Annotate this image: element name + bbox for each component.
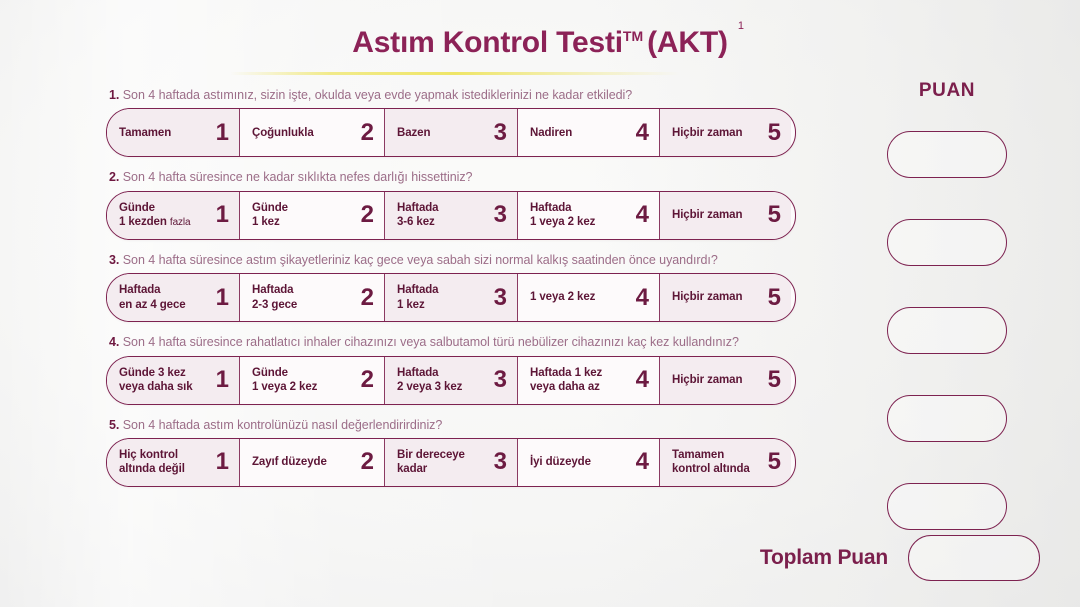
- answer-option-line2: 1 kez: [252, 216, 280, 228]
- answer-option-q1-5[interactable]: Hiçbir zaman5: [660, 109, 791, 156]
- answer-option-q2-1[interactable]: Günde1 kezden fazla1: [107, 192, 240, 239]
- answer-option-line1: Haftada: [252, 284, 293, 296]
- answer-option-label: Hiç kontrolaltında değil: [119, 448, 185, 477]
- score-slot-4: [852, 374, 1042, 462]
- answer-option-label: Günde1 kezden fazla: [119, 201, 191, 230]
- answer-option-line1: İyi düzeyde: [530, 456, 591, 468]
- answer-option-value: 4: [636, 368, 649, 392]
- answer-option-value: 5: [768, 286, 781, 310]
- score-slot-1: [852, 110, 1042, 198]
- score-column: PUAN: [852, 80, 1042, 550]
- answer-option-q4-2[interactable]: Günde1 veya 2 kez2: [240, 357, 385, 404]
- answer-option-q4-4[interactable]: Haftada 1 kezveya daha az4: [518, 357, 660, 404]
- answer-option-value: 5: [768, 368, 781, 392]
- akt-questionnaire-page: Astım Kontrol TestiTM(AKT)1 1. Son 4 haf…: [0, 0, 1080, 607]
- answer-option-line1: Hiçbir zaman: [672, 374, 742, 386]
- answer-option-q2-2[interactable]: Günde1 kez2: [240, 192, 385, 239]
- question-block-5: 5. Son 4 haftada astım kontrolünüzü nası…: [106, 418, 796, 487]
- answer-option-q3-1[interactable]: Haftadaen az 4 gece1: [107, 274, 240, 321]
- questions-list: 1. Son 4 haftada astımınız, sizin işte, …: [106, 88, 796, 500]
- answer-option-value: 3: [494, 286, 507, 310]
- answer-option-line1: Bazen: [397, 127, 430, 139]
- score-input-q2[interactable]: [887, 219, 1007, 266]
- score-input-q1[interactable]: [887, 131, 1007, 178]
- answer-row-4: Günde 3 kezveya daha sık1Günde1 veya 2 k…: [106, 356, 796, 405]
- answer-option-line1: Günde 3 kez: [119, 367, 186, 379]
- answer-option-q1-4[interactable]: Nadiren4: [518, 109, 660, 156]
- answer-option-label: Günde1 veya 2 kez: [252, 366, 317, 395]
- answer-option-line1: Tamamen: [119, 127, 171, 139]
- answer-option-value: 4: [636, 121, 649, 145]
- answer-option-label: 1 veya 2 kez: [530, 290, 595, 304]
- answer-option-q2-3[interactable]: Haftada3-6 kez3: [385, 192, 518, 239]
- answer-row-2: Günde1 kezden fazla1Günde1 kez2Haftada3-…: [106, 191, 796, 240]
- answer-option-line2: 2-3 gece: [252, 299, 297, 311]
- answer-option-value: 3: [494, 203, 507, 227]
- question-block-4: 4. Son 4 hafta süresince rahatlatıcı inh…: [106, 335, 796, 404]
- answer-option-line1: Günde: [252, 202, 288, 214]
- question-block-3: 3. Son 4 hafta süresince astım şikayetle…: [106, 253, 796, 322]
- answer-option-q5-3[interactable]: Bir dereceyekadar3: [385, 439, 518, 486]
- answer-option-line2: 1 veya 2 kez: [252, 381, 317, 393]
- question-number: 2.: [109, 170, 119, 184]
- answer-option-line2: 1 veya 2 kez: [530, 216, 595, 228]
- answer-option-q4-3[interactable]: Haftada2 veya 3 kez3: [385, 357, 518, 404]
- question-body: Son 4 haftada astımınız, sizin işte, oku…: [123, 88, 632, 102]
- answer-option-line2: 2 veya 3 kez: [397, 381, 462, 393]
- answer-option-line1: Hiçbir zaman: [672, 127, 742, 139]
- answer-option-label: Bazen: [397, 126, 430, 140]
- question-number: 3.: [109, 253, 119, 267]
- question-block-1: 1. Son 4 haftada astımınız, sizin işte, …: [106, 88, 796, 157]
- question-number: 4.: [109, 335, 119, 349]
- total-score-input[interactable]: [908, 535, 1040, 581]
- question-text-3: 3. Son 4 hafta süresince astım şikayetle…: [109, 253, 796, 267]
- answer-row-3: Haftadaen az 4 gece1Haftada2-3 gece2Haft…: [106, 273, 796, 322]
- answer-option-label: Haftada1 kez: [397, 283, 438, 312]
- answer-option-q3-4[interactable]: 1 veya 2 kez4: [518, 274, 660, 321]
- answer-option-line1: Çoğunlukla: [252, 127, 314, 139]
- answer-option-value: 4: [636, 286, 649, 310]
- answer-option-line1: Haftada 1 kez: [530, 367, 602, 379]
- score-column-header: PUAN: [852, 80, 1042, 102]
- answer-option-line1: Günde: [252, 367, 288, 379]
- page-title: Astım Kontrol TestiTM(AKT)1: [352, 26, 728, 60]
- question-body: Son 4 haftada astım kontrolünüzü nasıl d…: [123, 418, 443, 432]
- answer-option-label: Hiçbir zaman: [672, 290, 742, 304]
- question-text-4: 4. Son 4 hafta süresince rahatlatıcı inh…: [109, 335, 796, 349]
- title-area: Astım Kontrol TestiTM(AKT)1: [0, 26, 1080, 60]
- answer-option-label: Hiçbir zaman: [672, 126, 742, 140]
- answer-option-value: 3: [494, 450, 507, 474]
- answer-option-line1: Hiçbir zaman: [672, 291, 742, 303]
- answer-option-value: 1: [216, 121, 229, 145]
- answer-option-q2-4[interactable]: Haftada1 veya 2 kez4: [518, 192, 660, 239]
- answer-option-q4-5[interactable]: Hiçbir zaman5: [660, 357, 791, 404]
- answer-option-value: 1: [216, 450, 229, 474]
- answer-option-line1: Günde: [119, 202, 155, 214]
- title-accent-rule: [230, 72, 680, 75]
- answer-option-value: 2: [361, 286, 374, 310]
- answer-option-label: Haftadaen az 4 gece: [119, 283, 186, 312]
- answer-option-label: Bir dereceyekadar: [397, 448, 465, 477]
- answer-option-q1-2[interactable]: Çoğunlukla2: [240, 109, 385, 156]
- answer-option-q3-2[interactable]: Haftada2-3 gece2: [240, 274, 385, 321]
- answer-option-line1: Haftada: [397, 367, 438, 379]
- answer-option-value: 3: [494, 121, 507, 145]
- score-input-q3[interactable]: [887, 307, 1007, 354]
- answer-option-value: 5: [768, 203, 781, 227]
- answer-option-line2: en az 4 gece: [119, 299, 186, 311]
- answer-option-q4-1[interactable]: Günde 3 kezveya daha sık1: [107, 357, 240, 404]
- answer-option-line1: Haftada: [397, 284, 438, 296]
- total-score-label: Toplam Puan: [760, 546, 888, 570]
- answer-option-line1: Tamamen: [672, 449, 724, 461]
- answer-option-line2: veya daha az: [530, 381, 600, 393]
- answer-option-label: Haftada 1 kezveya daha az: [530, 366, 602, 395]
- answer-option-line2-suffix: fazla: [170, 217, 191, 228]
- score-input-q4[interactable]: [887, 395, 1007, 442]
- answer-option-label: Hiçbir zaman: [672, 373, 742, 387]
- answer-option-line1: Haftada: [397, 202, 438, 214]
- answer-row-1: Tamamen1Çoğunlukla2Bazen3Nadiren4Hiçbir …: [106, 108, 796, 157]
- answer-option-line2: kadar: [397, 463, 427, 475]
- answer-option-line2: 1 kez: [397, 299, 425, 311]
- answer-option-label: Tamamen: [119, 126, 171, 140]
- answer-option-label: Günde 3 kezveya daha sık: [119, 366, 193, 395]
- answer-option-value: 2: [361, 121, 374, 145]
- answer-option-value: 2: [361, 450, 374, 474]
- answer-option-line2: altında değil: [119, 463, 185, 475]
- title-abbreviation: (AKT): [647, 26, 728, 59]
- answer-option-label: Zayıf düzeyde: [252, 455, 327, 469]
- trademark-symbol: TM: [623, 28, 643, 44]
- answer-option-q1-1[interactable]: Tamamen1: [107, 109, 240, 156]
- answer-option-value: 5: [768, 121, 781, 145]
- answer-option-value: 1: [216, 203, 229, 227]
- answer-option-line1: Hiç kontrol: [119, 449, 178, 461]
- answer-option-line1: Haftada: [119, 284, 160, 296]
- question-block-2: 2. Son 4 hafta süresince ne kadar sıklık…: [106, 170, 796, 239]
- question-text-2: 2. Son 4 hafta süresince ne kadar sıklık…: [109, 170, 796, 184]
- answer-option-label: İyi düzeyde: [530, 455, 591, 469]
- question-text-1: 1. Son 4 haftada astımınız, sizin işte, …: [109, 88, 796, 102]
- answer-option-line2: veya daha sık: [119, 381, 193, 393]
- answer-option-line1: 1 veya 2 kez: [530, 291, 595, 303]
- answer-option-line2: 1 kezden: [119, 216, 167, 228]
- answer-option-label: Haftada3-6 kez: [397, 201, 438, 230]
- answer-option-value: 1: [216, 286, 229, 310]
- answer-option-label: Çoğunlukla: [252, 126, 314, 140]
- answer-option-line2: kontrol altında: [672, 463, 750, 475]
- answer-option-line2: 3-6 kez: [397, 216, 435, 228]
- answer-option-q5-5[interactable]: Tamamenkontrol altında5: [660, 439, 791, 486]
- answer-option-label: Haftada2 veya 3 kez: [397, 366, 462, 395]
- score-slot-2: [852, 198, 1042, 286]
- answer-option-label: Haftada2-3 gece: [252, 283, 297, 312]
- answer-option-line1: Nadiren: [530, 127, 572, 139]
- answer-option-label: Hiçbir zaman: [672, 208, 742, 222]
- question-body: Son 4 hafta süresince astım şikayetlerin…: [123, 253, 718, 267]
- answer-option-q3-5[interactable]: Hiçbir zaman5: [660, 274, 791, 321]
- answer-option-value: 5: [768, 450, 781, 474]
- answer-option-line1: Haftada: [530, 202, 571, 214]
- answer-option-value: 2: [361, 368, 374, 392]
- answer-option-q5-4[interactable]: İyi düzeyde4: [518, 439, 660, 486]
- question-body: Son 4 hafta süresince ne kadar sıklıkta …: [123, 170, 473, 184]
- answer-option-line1: Bir dereceye: [397, 449, 465, 461]
- title-footnote-marker: 1: [738, 20, 744, 32]
- answer-option-label: Günde1 kez: [252, 201, 288, 230]
- answer-option-line1: Zayıf düzeyde: [252, 456, 327, 468]
- answer-option-q5-2[interactable]: Zayıf düzeyde2: [240, 439, 385, 486]
- question-text-5: 5. Son 4 haftada astım kontrolünüzü nası…: [109, 418, 796, 432]
- answer-option-label: Tamamenkontrol altında: [672, 448, 750, 477]
- answer-option-value: 4: [636, 450, 649, 474]
- answer-option-line1: Hiçbir zaman: [672, 209, 742, 221]
- answer-option-q1-3[interactable]: Bazen3: [385, 109, 518, 156]
- answer-option-q2-5[interactable]: Hiçbir zaman5: [660, 192, 791, 239]
- title-main: Astım Kontrol Testi: [352, 26, 623, 59]
- answer-option-q3-3[interactable]: Haftada1 kez3: [385, 274, 518, 321]
- answer-option-q5-1[interactable]: Hiç kontrolaltında değil1: [107, 439, 240, 486]
- answer-option-value: 4: [636, 203, 649, 227]
- question-body: Son 4 hafta süresince rahatlatıcı inhale…: [123, 335, 739, 349]
- answer-option-label: Haftada1 veya 2 kez: [530, 201, 595, 230]
- score-input-q5[interactable]: [887, 483, 1007, 530]
- total-score-row: Toplam Puan: [640, 535, 1040, 581]
- answer-option-value: 3: [494, 368, 507, 392]
- question-number: 5.: [109, 418, 119, 432]
- question-number: 1.: [109, 88, 119, 102]
- score-slot-3: [852, 286, 1042, 374]
- answer-row-5: Hiç kontrolaltında değil1Zayıf düzeyde2B…: [106, 438, 796, 487]
- score-pill-list: [852, 110, 1042, 550]
- answer-option-value: 1: [216, 368, 229, 392]
- answer-option-value: 2: [361, 203, 374, 227]
- answer-option-label: Nadiren: [530, 126, 572, 140]
